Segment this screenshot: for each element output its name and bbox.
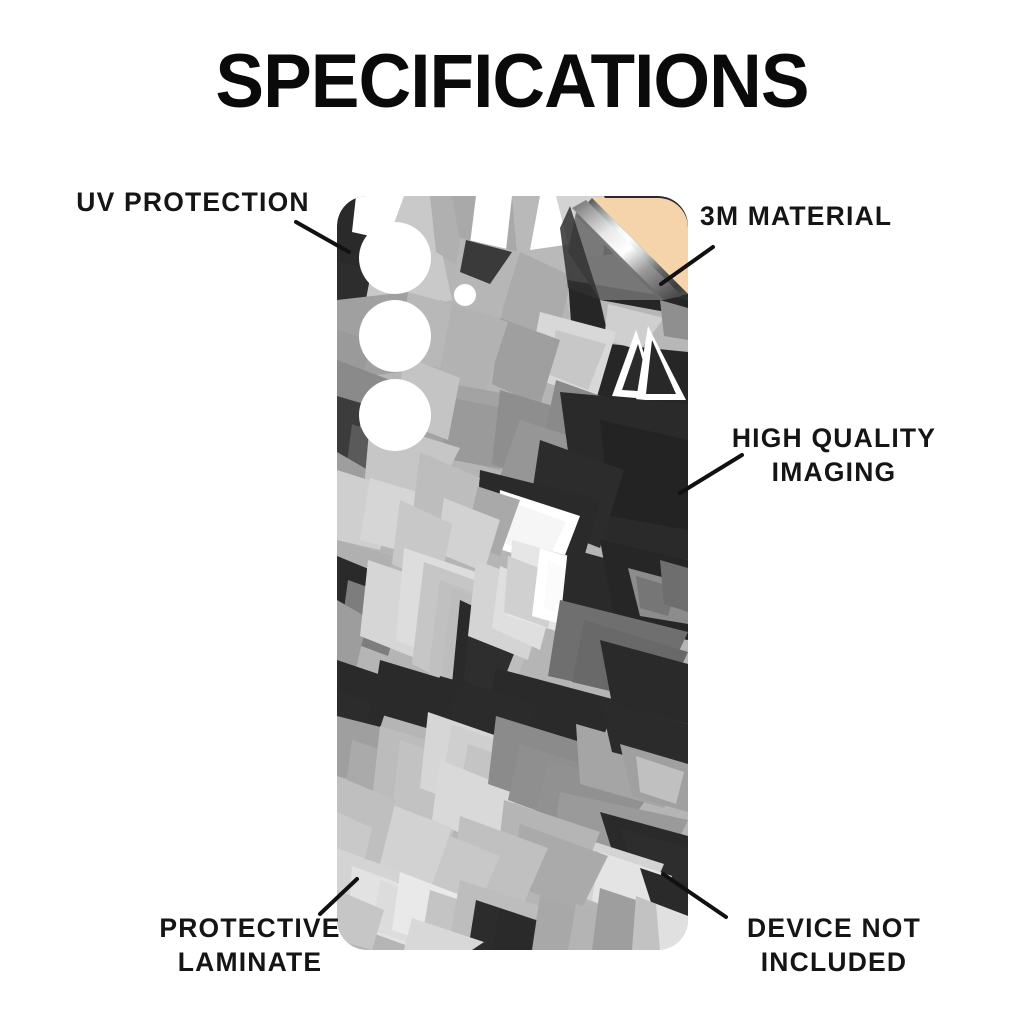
callout-device-not-included: DEVICE NOT INCLUDED — [700, 912, 968, 980]
callout-3m-material: 3M MATERIAL — [700, 200, 960, 234]
callout-protective-laminate: PROTECTIVE LAMINATE — [118, 912, 382, 980]
infographic-canvas: SPECIFICATIONS — [0, 0, 1024, 1024]
callout-imaging-line1: HIGH QUALITY — [732, 423, 936, 453]
product-illustration — [0, 0, 1024, 1024]
callout-imaging-line2: IMAGING — [712, 456, 956, 490]
peel-corner — [560, 198, 688, 300]
callout-uv-line1: UV PROTECTION — [76, 187, 310, 217]
callout-device-line1: DEVICE NOT — [747, 913, 921, 943]
callout-laminate-line2: LAMINATE — [118, 946, 382, 980]
callout-high-quality-imaging: HIGH QUALITY IMAGING — [712, 422, 956, 490]
phone-skin-body — [337, 196, 688, 950]
callout-laminate-line1: PROTECTIVE — [159, 913, 340, 943]
callout-uv-protection: UV PROTECTION — [62, 186, 324, 220]
callout-device-line2: INCLUDED — [700, 946, 968, 980]
callout-3m-line1: 3M MATERIAL — [700, 201, 892, 231]
